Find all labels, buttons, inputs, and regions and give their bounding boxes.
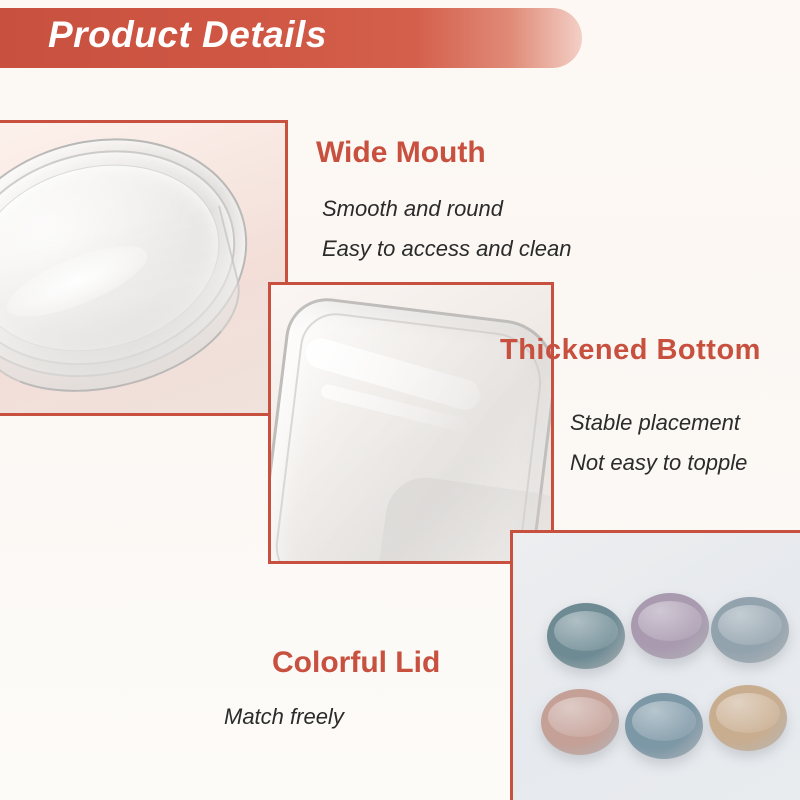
lids-grid <box>513 533 800 800</box>
lid-grey-blue <box>711 597 789 663</box>
lid-slate-blue <box>547 603 625 669</box>
lid-lavender <box>631 593 709 659</box>
thickened-bottom-line-2: Not easy to topple <box>570 450 747 476</box>
wide-mouth-line-2: Easy to access and clean <box>322 236 571 262</box>
lid-steel-blue <box>625 693 703 759</box>
wide-mouth-heading: Wide Mouth <box>316 136 486 170</box>
page-title: Product Details <box>48 14 327 56</box>
thickened-bottom-line-1: Stable placement <box>570 410 740 436</box>
lid-sand-beige <box>709 685 787 751</box>
wide-mouth-line-1: Smooth and round <box>322 196 503 222</box>
lid-blush-pink <box>541 689 619 755</box>
wide-mouth-photo <box>0 120 288 416</box>
colorful-lid-line-1: Match freely <box>224 704 344 730</box>
colorful-lid-photo <box>510 530 800 800</box>
thickened-bottom-heading: Thickened Bottom <box>500 334 761 367</box>
colorful-lid-heading: Colorful Lid <box>272 646 440 680</box>
product-details-page: Product Details Wide Mouth Smooth and ro… <box>0 0 800 800</box>
thickened-bottom-photo <box>268 282 554 564</box>
glass-lid-illustration <box>0 123 285 413</box>
